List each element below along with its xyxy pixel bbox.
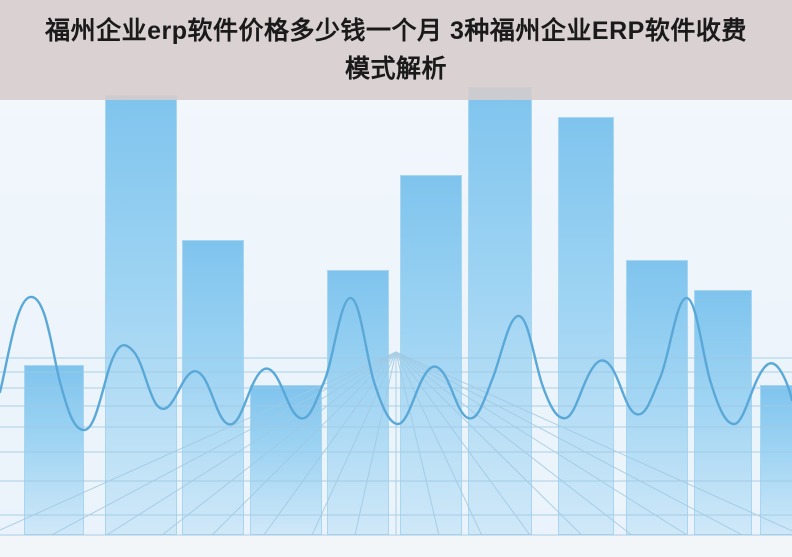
- chart-image: 福州企业erp软件价格多少钱一个月 3种福州企业ERP软件收费模式解析: [0, 0, 792, 557]
- baseline-rule: [0, 535, 792, 536]
- baseline-strip: [0, 535, 792, 557]
- title-banner: 福州企业erp软件价格多少钱一个月 3种福州企业ERP软件收费模式解析: [0, 0, 792, 100]
- page-title: 福州企业erp软件价格多少钱一个月 3种福州企业ERP软件收费模式解析: [36, 12, 756, 88]
